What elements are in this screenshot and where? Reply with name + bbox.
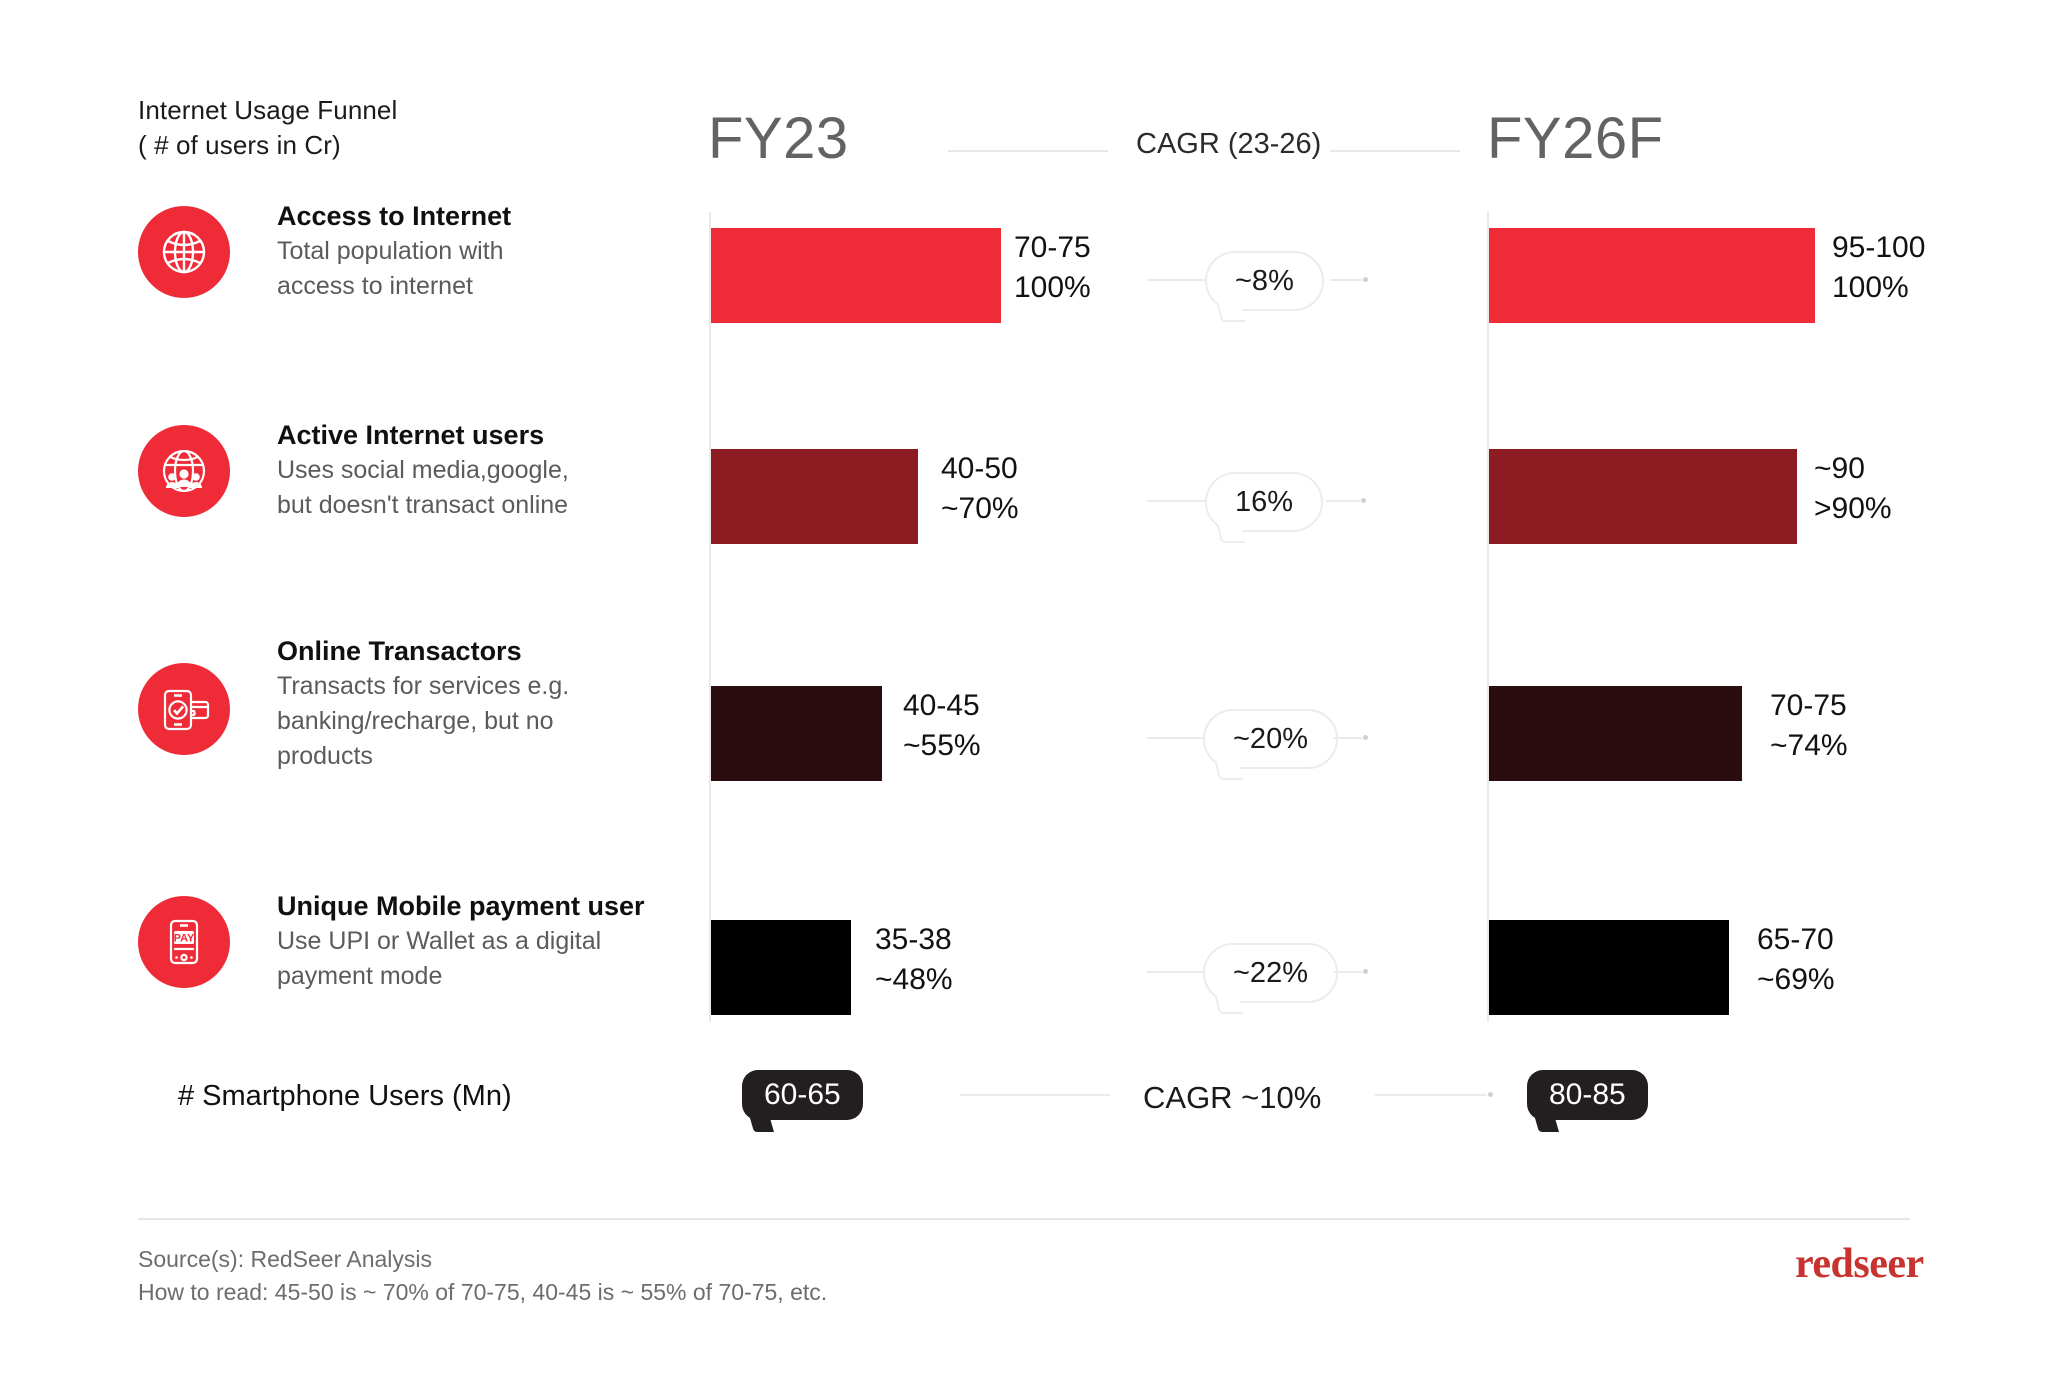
bar-value-share: ~74%: [1770, 726, 1848, 766]
connector-bottom-dot: [1488, 1092, 1493, 1097]
infographic-canvas: Internet Usage Funnel ( # of users in Cr…: [0, 0, 2048, 1385]
footer-text-block: Source(s): RedSeer Analysis How to read:…: [138, 1243, 827, 1309]
bar-value-number: ~90: [1814, 449, 1892, 489]
bar-value-fy23: 70-75 100%: [1014, 228, 1091, 308]
connector-dot: [1363, 969, 1368, 974]
mobile-payment-card-icon: [138, 663, 230, 755]
row-text-block: Access to Internet Total population with…: [277, 198, 677, 304]
chart-title-line-1: Internet Usage Funnel: [138, 93, 397, 128]
bar-fy26: [1489, 228, 1815, 323]
row-title: Online Transactors: [277, 633, 677, 669]
bar-fy26: [1489, 449, 1797, 544]
smartphone-pill-fy23[interactable]: 60-65: [742, 1070, 863, 1120]
bar-value-number: 70-75: [1770, 686, 1848, 726]
bar-value-number: 95-100: [1832, 228, 1925, 268]
smartphone-pill-fy23-value: 60-65: [764, 1078, 841, 1112]
bar-value-fy23: 40-45 ~55%: [903, 686, 981, 766]
connector-bottom-right: [1375, 1094, 1487, 1096]
cagr-bubble-value: ~20%: [1233, 723, 1308, 756]
row-desc-line: banking/recharge, but no: [277, 704, 677, 739]
row-text-block: Active Internet users Uses social media,…: [277, 417, 677, 523]
bar-value-fy26: 95-100 100%: [1832, 228, 1925, 308]
row-desc-line: Transacts for services e.g.: [277, 669, 677, 704]
connector-left: [1147, 500, 1213, 502]
bar-value-number: 35-38: [875, 920, 953, 960]
bar-fy23: [711, 686, 882, 781]
row-desc-line: Total population with: [277, 234, 677, 269]
bar-fy23: [711, 228, 1001, 323]
row-desc-line: access to internet: [277, 269, 677, 304]
connector-dot: [1363, 277, 1368, 282]
smartphone-cagr-label: CAGR ~10%: [1143, 1080, 1321, 1116]
row-desc-line: Use UPI or Wallet as a digital: [277, 924, 677, 959]
globe-icon: [138, 206, 230, 298]
axis-guide-fy23: [709, 212, 711, 1022]
bar-value-fy26: ~90 >90%: [1814, 449, 1892, 529]
bar-value-fy26: 65-70 ~69%: [1757, 920, 1835, 1000]
row-text-block: Online Transactors Transacts for service…: [277, 633, 677, 774]
svg-text:PAY: PAY: [174, 933, 195, 945]
cagr-bubble[interactable]: ~22%: [1203, 943, 1338, 1003]
footer-divider: [138, 1218, 1910, 1220]
users-globe-icon: [138, 425, 230, 517]
bar-value-fy23: 35-38 ~48%: [875, 920, 953, 1000]
row-desc-line: Uses social media,google,: [277, 453, 677, 488]
bar-value-share: ~69%: [1757, 960, 1835, 1000]
column-header-fy26: FY26F: [1487, 105, 1664, 172]
connector-dot: [1361, 498, 1366, 503]
connector-right: [1326, 500, 1360, 502]
footer-source: Source(s): RedSeer Analysis: [138, 1243, 827, 1276]
axis-guide-fy26: [1487, 212, 1489, 1022]
bar-value-share: ~48%: [875, 960, 953, 1000]
bar-value-share: ~70%: [941, 489, 1019, 529]
pay-phone-icon: PAY: [138, 896, 230, 988]
row-desc-line: payment mode: [277, 959, 677, 994]
bar-fy23: [711, 449, 918, 544]
row-desc-line: but doesn't transact online: [277, 488, 677, 523]
cagr-bubble[interactable]: ~20%: [1203, 709, 1338, 769]
header-rule-left: [948, 150, 1108, 152]
smartphone-pill-fy26[interactable]: 80-85: [1527, 1070, 1648, 1120]
row-title: Unique Mobile payment user: [277, 888, 677, 924]
connector-dot: [1363, 735, 1368, 740]
connector-right: [1330, 279, 1362, 281]
column-header-fy23: FY23: [708, 105, 849, 172]
bar-value-number: 70-75: [1014, 228, 1091, 268]
row-desc-line: products: [277, 739, 677, 774]
cagr-bubble-value: 16%: [1235, 486, 1293, 519]
cagr-bubble[interactable]: ~8%: [1205, 251, 1324, 311]
bar-fy26: [1489, 686, 1742, 781]
row-text-block: Unique Mobile payment user Use UPI or Wa…: [277, 888, 677, 994]
connector-right: [1334, 737, 1362, 739]
cagr-bubble[interactable]: 16%: [1205, 472, 1323, 532]
redseer-logo: redseer: [1795, 1240, 1924, 1288]
header-rule-right: [1330, 150, 1460, 152]
connector-left: [1147, 279, 1213, 281]
bar-value-number: 65-70: [1757, 920, 1835, 960]
smartphone-users-label: # Smartphone Users (Mn): [178, 1080, 512, 1113]
bar-value-number: 40-45: [903, 686, 981, 726]
cagr-bubble-value: ~22%: [1233, 957, 1308, 990]
chart-title-line-2: ( # of users in Cr): [138, 128, 397, 163]
smartphone-pill-fy26-value: 80-85: [1549, 1078, 1626, 1112]
connector-bottom-left: [960, 1094, 1110, 1096]
chart-title-block: Internet Usage Funnel ( # of users in Cr…: [138, 93, 397, 163]
bar-fy23: [711, 920, 851, 1015]
bar-value-share: 100%: [1014, 268, 1091, 308]
bar-value-share: >90%: [1814, 489, 1892, 529]
bar-fy26: [1489, 920, 1729, 1015]
column-header-cagr: CAGR (23-26): [1136, 128, 1321, 161]
footer-how-to-read: How to read: 45-50 is ~ 70% of 70-75, 40…: [138, 1276, 827, 1309]
bar-value-fy23: 40-50 ~70%: [941, 449, 1019, 529]
connector-right: [1334, 971, 1362, 973]
row-title: Active Internet users: [277, 417, 677, 453]
row-title: Access to Internet: [277, 198, 677, 234]
cagr-bubble-value: ~8%: [1235, 265, 1294, 298]
bar-value-share: 100%: [1832, 268, 1925, 308]
bar-value-fy26: 70-75 ~74%: [1770, 686, 1848, 766]
bar-value-share: ~55%: [903, 726, 981, 766]
bar-value-number: 40-50: [941, 449, 1019, 489]
